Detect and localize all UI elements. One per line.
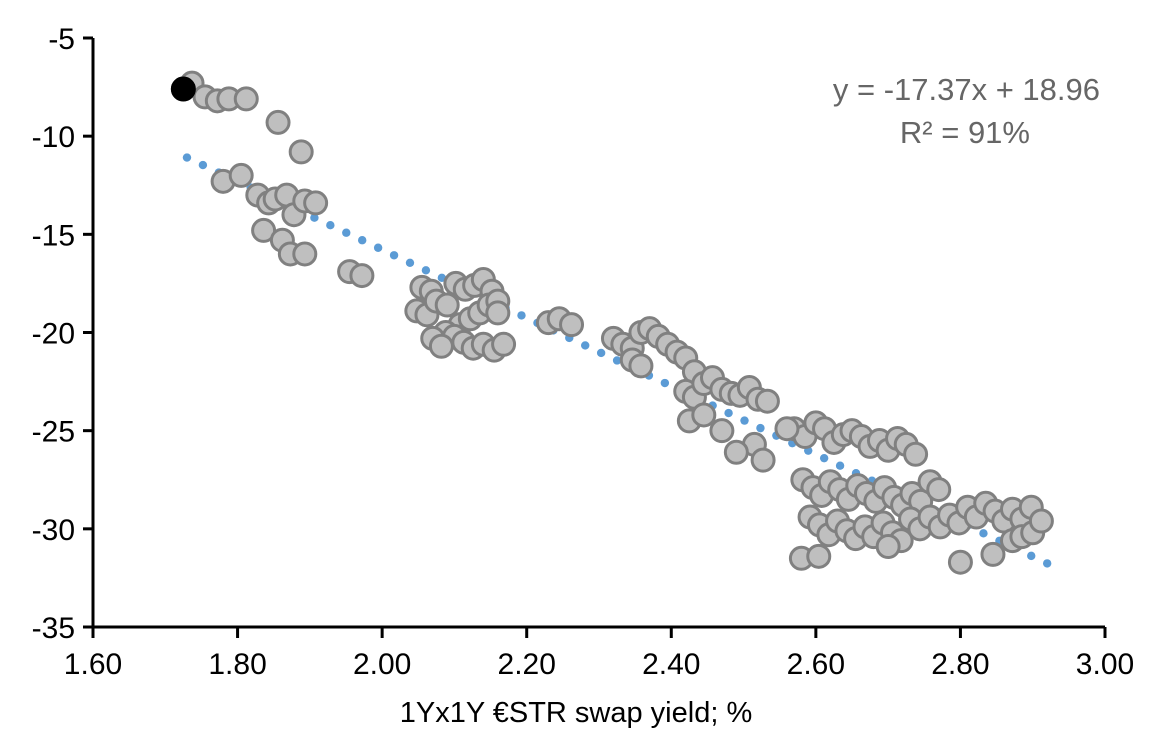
scatter-point [493,333,515,355]
scatter-chart: -5-10-15-20-25-30-351.601.802.002.202.40… [0,0,1152,745]
trendline-dot [820,454,828,462]
trendline-dot [358,236,366,244]
chart-canvas: -5-10-15-20-25-30-351.601.802.002.202.40… [0,0,1152,745]
trendline-dot [183,153,191,161]
trendline-dot [581,341,589,349]
x-axis-title: 1Yx1Y €STR swap yield; % [400,697,752,729]
trendline-dot [422,266,430,274]
trendline-dot [326,221,334,229]
y-tick-label: -35 [32,612,75,645]
x-tick-label: 2.20 [498,648,556,681]
scatter-point [290,141,312,163]
trendline-dot [390,251,398,259]
scatter-point [693,404,715,426]
trendline-dot [740,416,748,424]
scatter-point [756,390,778,412]
x-tick-label: 2.00 [353,648,411,681]
trendline-dot [836,461,844,469]
scatter-point [949,551,971,573]
y-tick-label: -30 [32,514,75,547]
trendline-dot [1027,552,1035,560]
scatter-point [905,443,927,465]
y-tick-label: -20 [32,318,75,351]
scatter-point [776,418,798,440]
scatter-point [752,449,774,471]
scatter-point [487,302,509,324]
scatter-point [808,545,830,567]
x-tick-label: 3.00 [1076,648,1134,681]
x-tick-label: 2.60 [787,648,845,681]
scatter-point [928,479,950,501]
scatter-point [351,265,373,287]
trendline-dot [661,379,669,387]
scatter-point [725,441,747,463]
scatter-point [230,164,252,186]
trendline-dot [597,349,605,357]
scatter-point [877,536,899,558]
highlight-point [172,78,194,100]
trendline-dot [979,529,987,537]
x-tick-label: 2.80 [931,648,989,681]
scatter-point [630,355,652,377]
trendline-dot [756,424,764,432]
trendline-dot [342,229,350,237]
y-tick-label: -25 [32,416,75,449]
scatter-point [430,335,452,357]
x-tick-label: 1.60 [64,648,122,681]
x-tick-label: 2.40 [642,648,700,681]
scatter-point [436,294,458,316]
scatter-point [561,314,583,336]
scatter-point [1030,510,1052,532]
trendline-dot [1043,559,1051,567]
scatter-point [267,111,289,133]
x-tick-label: 1.80 [208,648,266,681]
scatter-point [711,420,733,442]
scatter-point [235,88,257,110]
trendline-dot [374,244,382,252]
regression-equation-label: y = -17.37x + 18.96 [833,72,1100,107]
r-squared-label: R² = 91% [900,115,1030,150]
trendline-dot [199,161,207,169]
scatter-point [305,192,327,214]
scatter-point [982,543,1004,565]
highlighted-scatter-point [172,78,194,100]
scatter-point [294,243,316,265]
trendline-dot [406,259,414,267]
y-tick-label: -10 [32,121,75,154]
y-tick-label: -5 [48,23,75,56]
trendline-dot [724,409,732,417]
trendline-dot [517,311,525,319]
y-tick-label: -15 [32,219,75,252]
